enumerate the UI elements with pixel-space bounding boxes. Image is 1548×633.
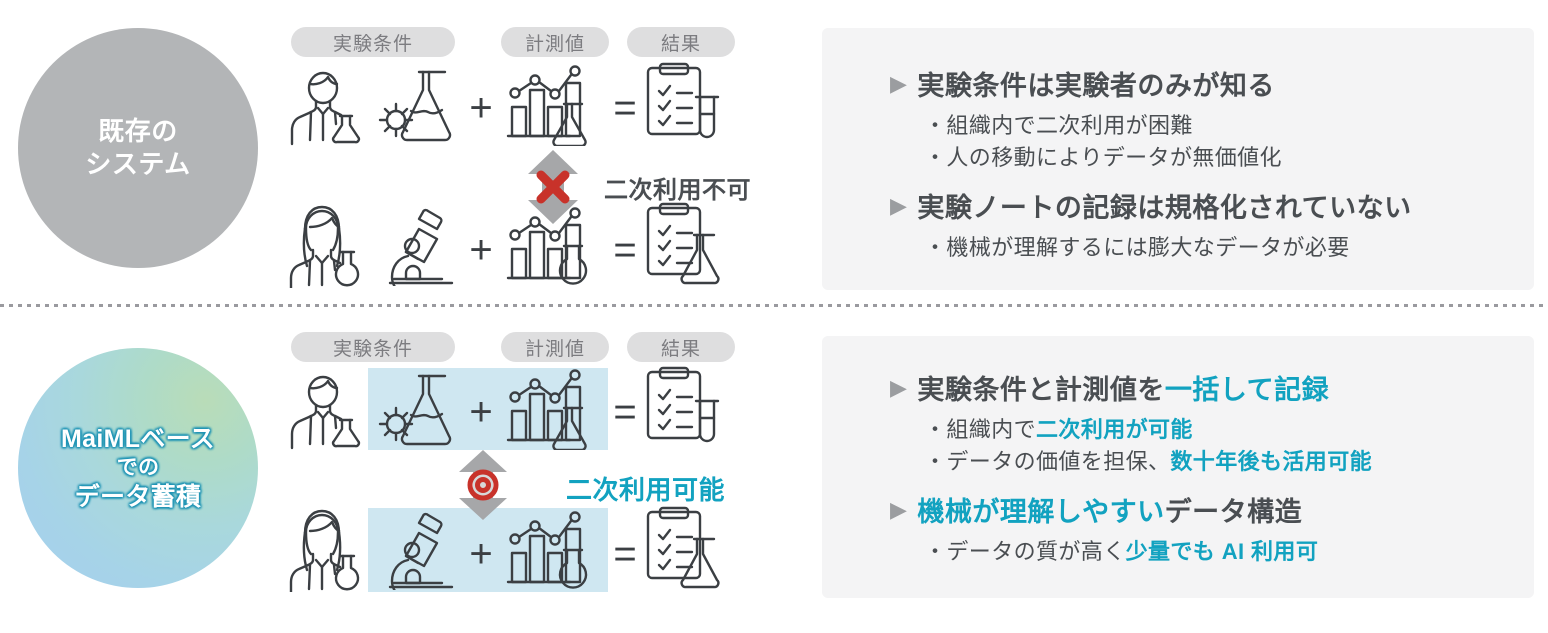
maiml-circle-line-2: での (61, 455, 215, 482)
pill-measured-values-bottom: 計測値 (501, 332, 609, 362)
pill-result-bottom: 結果 (627, 332, 735, 362)
maiml-bullet-1-sub-2: ・データの価値を担保、数十年後も活用可能 (924, 446, 1372, 478)
maiml-bullet-1-heading: ▶ 実験条件と計測値を一括して記録 (890, 374, 1372, 406)
bar-chart-flask-icon-4 (504, 506, 600, 592)
operator-equals-top-row1: = (610, 88, 640, 128)
maiml-circle-line-1: MaiMLベース (61, 423, 215, 455)
pill-experiment-conditions-bottom: 実験条件 (291, 332, 455, 362)
male-scientist-icon (288, 68, 368, 146)
bar-chart-flask-icon-3 (504, 364, 600, 450)
clipboard-flask-icon-2 (644, 506, 726, 592)
section-divider (0, 304, 1548, 307)
operator-plus-bottom-row2: + (466, 534, 496, 574)
maiml-bullet-2-heading: ▶ 機械が理解しやすいデータ構造 (890, 496, 1318, 528)
maiml-bullet-1: ▶ 実験条件と計測値を一括して記録 ・組織内で二次利用が可能 ・データの価値を担… (890, 374, 1372, 478)
male-scientist-icon-2 (288, 372, 368, 450)
clipboard-testtube-icon-2 (644, 366, 726, 448)
clipboard-testtube-icon (644, 62, 726, 144)
triangle-marker-icon: ▶ (890, 374, 907, 403)
existing-circle-line-1: 既存の (85, 115, 190, 148)
existing-system-circle: 既存の システム (18, 28, 258, 268)
pill-experiment-conditions-top: 実験条件 (291, 27, 455, 57)
pill-result-top: 結果 (627, 27, 735, 57)
maiml-bullet-1-sub-1: ・組織内で二次利用が可能 (924, 414, 1372, 446)
bar-chart-flask-icon-2 (504, 202, 600, 288)
microscope-icon (382, 208, 466, 286)
infographic-stage: 既存の システム 実験条件 計測値 結果 (0, 0, 1548, 633)
existing-bullet-1-sub-1: ・組織内で二次利用が困難 (924, 110, 1282, 142)
operator-equals-bottom-row2: = (610, 534, 640, 574)
maiml-bullet-1-heading-accent: 一括して記録 (1165, 374, 1329, 406)
female-scientist-icon-2 (286, 508, 370, 592)
gear-flask-icon-2 (378, 372, 464, 450)
existing-bullet-2: ▶ 実験ノートの記録は規格化されていない ・機械が理解するには膨大なデータが必要 (890, 192, 1412, 264)
triangle-marker-icon: ▶ (890, 192, 907, 221)
status-text-reuse-possible: 二次利用可能 (566, 470, 725, 507)
existing-bullet-2-sub-1: ・機械が理解するには膨大なデータが必要 (924, 232, 1412, 264)
operator-equals-bottom-row1: = (610, 392, 640, 432)
female-scientist-icon (286, 204, 370, 288)
operator-equals-top-row2: = (610, 230, 640, 270)
operator-plus-top-row2: + (466, 230, 496, 270)
triangle-marker-icon: ▶ (890, 496, 907, 525)
bar-chart-flask-icon (504, 60, 600, 146)
existing-bullet-1: ▶ 実験条件は実験者のみが知る ・組織内で二次利用が困難 ・人の移動によりデータ… (890, 70, 1282, 174)
gear-flask-icon (378, 68, 464, 146)
clipboard-flask-icon (644, 202, 726, 288)
maiml-circle-line-3: データ蓄積 (61, 481, 215, 513)
maiml-bullet-2-sub-1: ・データの質が高く少量でも AI 利用可 (924, 536, 1318, 568)
triangle-marker-icon: ▶ (890, 70, 907, 99)
maiml-base-circle: MaiMLベース での データ蓄積 (18, 348, 258, 588)
existing-bullet-2-heading: ▶ 実験ノートの記録は規格化されていない (890, 192, 1412, 224)
microscope-icon-2 (382, 512, 466, 590)
pill-measured-values-top: 計測値 (501, 27, 609, 57)
operator-plus-bottom-row1: + (466, 392, 496, 432)
maiml-bullet-2: ▶ 機械が理解しやすいデータ構造 ・データの質が高く少量でも AI 利用可 (890, 496, 1318, 568)
existing-bullet-1-heading: ▶ 実験条件は実験者のみが知る (890, 70, 1282, 102)
status-text-no-reuse: 二次利用不可 (604, 170, 751, 205)
existing-circle-line-2: システム (85, 148, 190, 181)
operator-plus-top-row1: + (466, 88, 496, 128)
existing-bullet-1-sub-2: ・人の移動によりデータが無価値化 (924, 142, 1282, 174)
